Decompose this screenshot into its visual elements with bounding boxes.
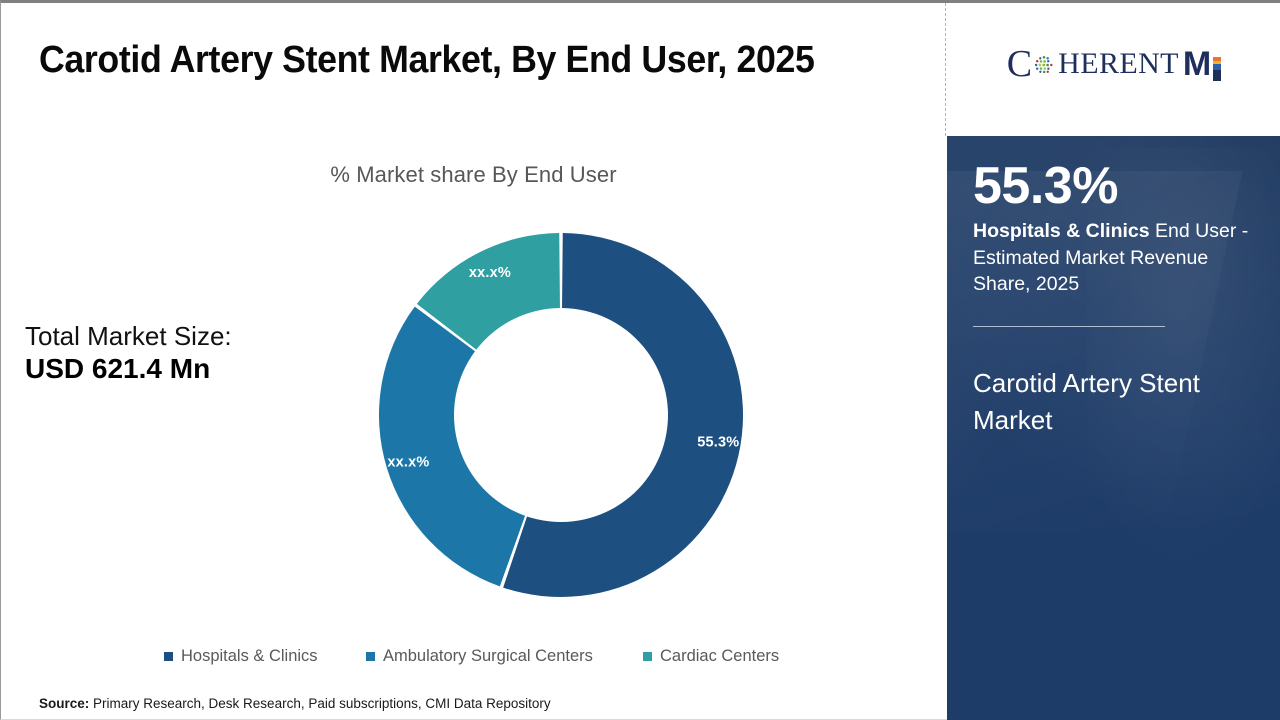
source-note: Source: Primary Research, Desk Research,…	[39, 696, 551, 711]
infographic-root: Carotid Artery Stent Market, By End User…	[0, 0, 1280, 720]
legend-swatch-icon	[643, 652, 652, 661]
donut-slice[interactable]	[379, 307, 525, 587]
panel-market-name: Carotid Artery Stent Market	[973, 365, 1255, 440]
chart-legend: Hospitals & ClinicsAmbulatory Surgical C…	[1, 646, 946, 666]
source-text: Primary Research, Desk Research, Paid su…	[89, 696, 550, 711]
highlight-panel: 55.3% Hospitals & Clinics End User - Est…	[947, 136, 1280, 720]
legend-label: Ambulatory Surgical Centers	[383, 646, 593, 666]
legend-swatch-icon	[366, 652, 375, 661]
legend-swatch-icon	[164, 652, 173, 661]
vertical-dashed-divider	[945, 3, 946, 136]
donut-slice-label: xx.x%	[387, 454, 429, 470]
donut-chart-svg: 55.3%xx.x%xx.x%	[369, 223, 753, 607]
total-market-size-value: USD 621.4 Mn	[25, 352, 325, 386]
legend-item[interactable]: Cardiac Centers	[643, 646, 783, 666]
logo-zone: C	[947, 3, 1280, 136]
legend-item[interactable]: Ambulatory Surgical Centers	[366, 646, 599, 666]
highlight-stat-description: Hospitals & Clinics End User - Estimated…	[973, 218, 1255, 298]
right-column: C	[947, 3, 1280, 720]
source-label: Source:	[39, 696, 89, 711]
donut-slice-label: 55.3%	[697, 434, 739, 450]
logo-letter-i-bar	[1213, 57, 1221, 81]
legend-label: Cardiac Centers	[660, 646, 779, 666]
total-market-size-block: Total Market Size: USD 621.4 Mn	[25, 321, 325, 386]
highlight-stat-segment: Hospitals & Clinics	[973, 220, 1150, 242]
chart-panel: Carotid Artery Stent Market, By End User…	[1, 3, 946, 720]
donut-slice-group	[379, 233, 743, 597]
panel-divider-rule	[973, 326, 1165, 327]
legend-label: Hospitals & Clinics	[181, 646, 318, 666]
donut-chart: 55.3%xx.x%xx.x%	[369, 223, 753, 607]
legend-item[interactable]: Hospitals & Clinics	[164, 646, 322, 666]
logo-text-herent: HERENT	[1058, 49, 1179, 79]
donut-slice-label: xx.x%	[469, 265, 511, 281]
coherentmi-logo: C	[1007, 45, 1221, 83]
highlight-panel-content: 55.3% Hospitals & Clinics End User - Est…	[947, 158, 1280, 440]
logo-letter-c: C	[1007, 45, 1032, 83]
total-market-size-label: Total Market Size:	[25, 321, 325, 352]
globe-dotted-icon	[1032, 53, 1056, 77]
page-title: Carotid Artery Stent Market, By End User…	[39, 39, 814, 82]
logo-letter-m: M	[1183, 47, 1210, 81]
logo-text-mi: M	[1183, 47, 1221, 81]
chart-subtitle: % Market share By End User	[1, 162, 946, 188]
highlight-stat-value: 55.3%	[973, 158, 1255, 214]
